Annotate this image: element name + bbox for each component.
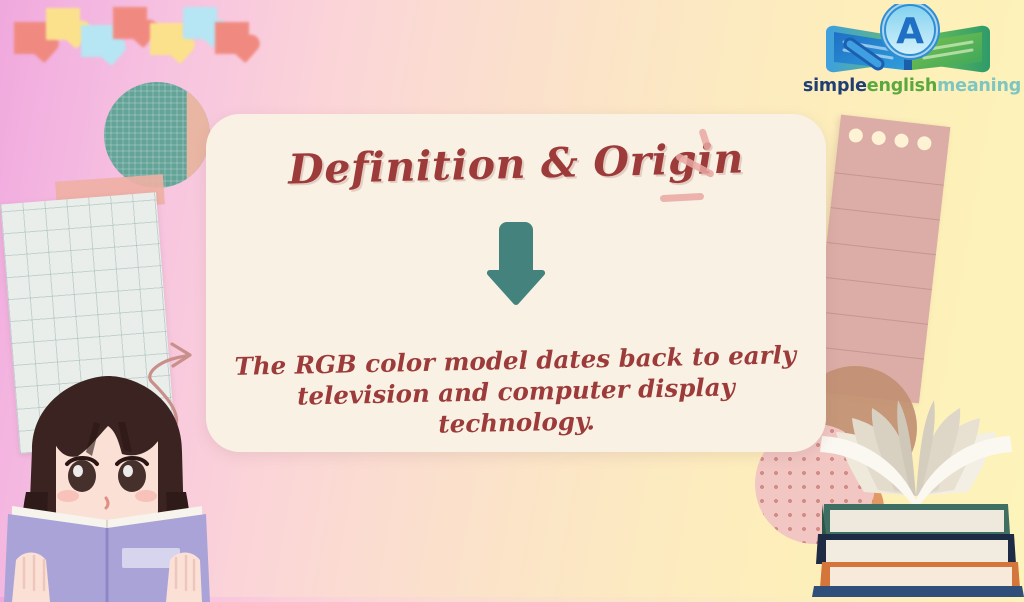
page-title: Definition & Origin xyxy=(206,132,827,195)
wordmark-part-english: english xyxy=(867,76,937,96)
grid-paper-sheet xyxy=(0,192,175,453)
notepad-rule xyxy=(826,242,935,255)
magnifier-letter: A xyxy=(896,11,924,52)
brand-wordmark: simpleenglishmeaning xyxy=(800,76,1024,96)
notepad-rule xyxy=(834,172,943,185)
heart-5 xyxy=(150,23,184,55)
heart-3 xyxy=(81,25,115,57)
heart-row xyxy=(0,0,270,60)
notepad-hole xyxy=(871,130,886,145)
orange-circle xyxy=(808,470,884,546)
teal-texture-circle xyxy=(104,82,210,188)
notepad-hole xyxy=(917,136,932,151)
book-stack-illustration xyxy=(808,392,1024,597)
girl-reading-illustration xyxy=(0,372,220,602)
content-card: Definition & Origin The RGB color model … xyxy=(206,114,826,452)
heart-7 xyxy=(215,22,249,54)
notepad-rule xyxy=(815,346,924,359)
curved-loop-arrow-icon xyxy=(128,336,214,452)
heart-6 xyxy=(183,7,217,39)
notepad-rule xyxy=(823,277,932,290)
notepad-rule xyxy=(819,311,928,324)
notepad-rule xyxy=(830,207,939,220)
sparkle-line-3 xyxy=(660,193,704,202)
body-text: The RGB color model dates back to early … xyxy=(233,340,799,444)
heart-1 xyxy=(14,22,48,54)
notepad-hole xyxy=(848,128,863,143)
pink-tape-strip xyxy=(55,174,165,211)
brand-logo[interactable]: A simpleenglishmeaning xyxy=(800,4,1024,108)
arrow-down-icon xyxy=(485,218,547,310)
wordmark-part-simple: simple xyxy=(803,76,867,96)
open-book-magnifier-icon: A xyxy=(800,4,1024,78)
teal-circle-peach-edge xyxy=(104,82,210,188)
pink-notepad xyxy=(810,115,951,404)
wordmark-part-meaning: meaning xyxy=(937,76,1021,96)
notepad-hole xyxy=(894,133,909,148)
heart-2 xyxy=(46,8,80,40)
heart-4 xyxy=(113,7,147,39)
